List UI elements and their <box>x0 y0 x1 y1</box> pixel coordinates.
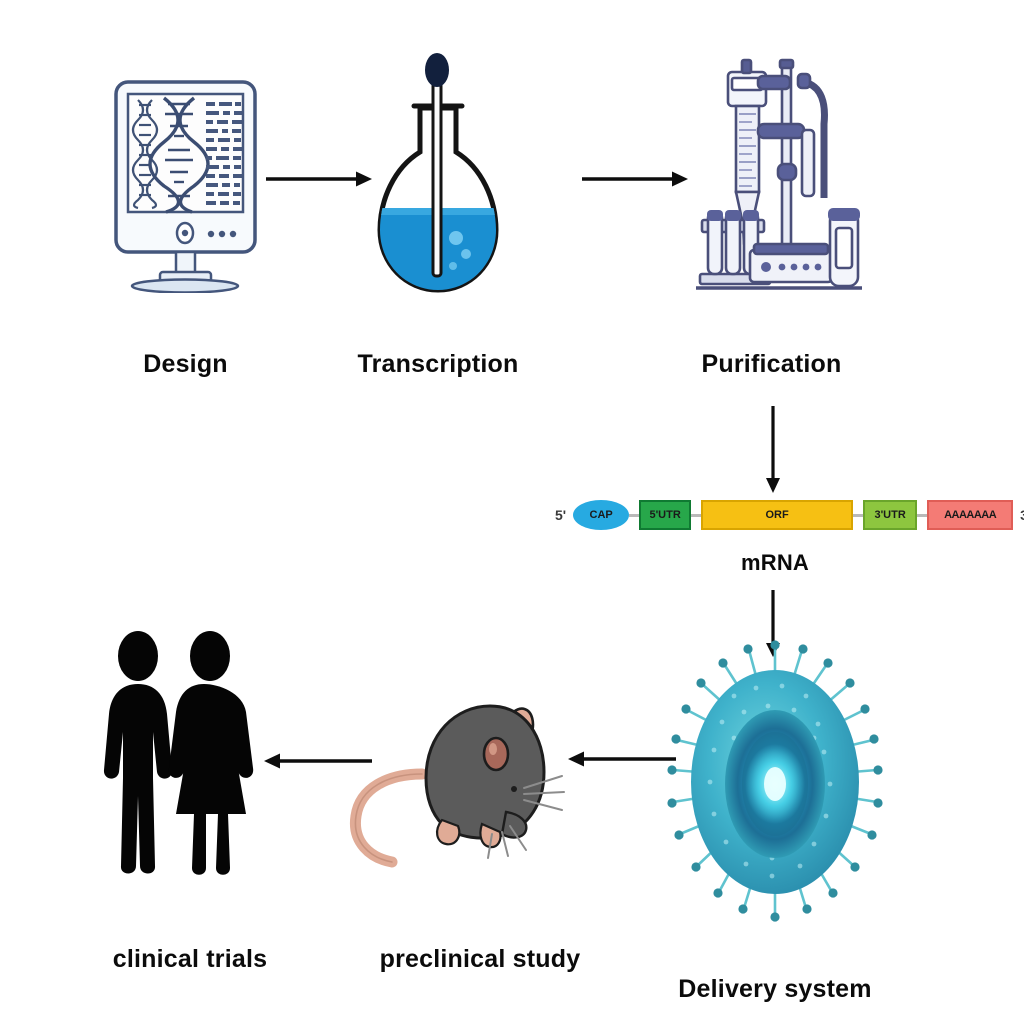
arrow-preclinical-to-clinical <box>262 750 374 777</box>
dna-monitor-svg <box>108 78 263 293</box>
people-icon <box>98 628 258 878</box>
mrna-linker <box>917 514 927 517</box>
lipid-nanoparticle-icon <box>664 636 886 958</box>
mrna-linker <box>629 514 639 517</box>
mrna-segment-3utr: 3'UTR <box>863 500 917 530</box>
arrow-design-to-transcription <box>264 168 374 195</box>
stage-label-transcription: Transcription <box>348 350 528 379</box>
mrna-segment-5utr: 5'UTR <box>639 500 691 530</box>
stage-label-delivery-system: Delivery system <box>655 975 895 1004</box>
stage-label-clinical-trials: clinical trials <box>75 945 305 974</box>
mouse-svg <box>330 692 570 872</box>
stage-label-mrna: mRNA <box>700 550 850 576</box>
mrna-3prime-label: 3' <box>1013 507 1024 523</box>
mrna-segment-orf: ORF <box>701 500 853 530</box>
male-silhouette <box>104 631 172 874</box>
stage-label-design: Design <box>108 350 263 379</box>
flask-icon <box>368 48 508 298</box>
mrna-linker <box>853 514 863 517</box>
arrow-delivery-to-preclinical <box>566 748 678 775</box>
stage-label-preclinical-study: preclinical study <box>360 945 600 974</box>
mrna-segment-polya: AAAAAAA <box>927 500 1013 530</box>
chromatography-rig-icon <box>694 52 864 297</box>
dna-monitor-icon <box>108 78 263 293</box>
mrna-linker <box>691 514 701 517</box>
female-silhouette <box>169 631 253 875</box>
flask-svg <box>368 48 508 298</box>
lipid-nanoparticle-svg <box>664 636 886 958</box>
arrow-purification-to-mrna <box>762 404 784 499</box>
mrna-5prime-label: 5' <box>548 507 573 523</box>
mrna-segment-cap: CAP <box>573 500 629 530</box>
mouse-icon <box>330 692 570 872</box>
stage-label-purification: Purification <box>684 350 859 379</box>
arrow-transcription-to-purification <box>580 168 690 195</box>
figure-canvas: Design <box>0 0 1024 1024</box>
mrna-construct-icon: 5' CAP 5'UTR ORF 3'UTR AAAAAAA 3' <box>548 500 1024 530</box>
people-svg <box>98 628 258 878</box>
chromatography-rig-svg <box>694 52 864 297</box>
